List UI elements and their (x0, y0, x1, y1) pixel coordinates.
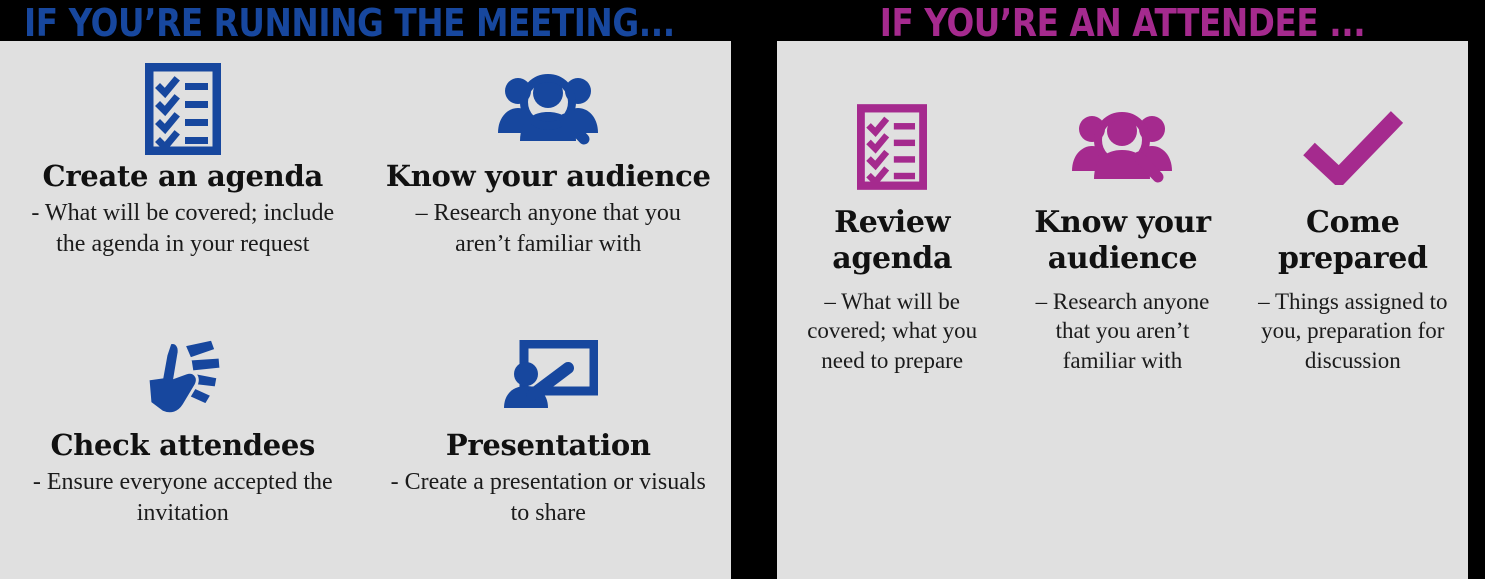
infographic-root: Create an agenda - What will be covered;… (0, 0, 1485, 579)
card-body: - Ensure everyone accepted the invitatio… (23, 467, 343, 528)
card-body: – Research anyone that you aren’t famili… (388, 198, 708, 259)
card-review-agenda: Review agenda – What will be covered; wh… (777, 99, 1007, 375)
panel-title-running-the-meeting: IF YOU’RE RUNNING THE MEETING... (24, 4, 675, 42)
audience-search-icon (496, 63, 600, 155)
card-title: Create an agenda (43, 161, 323, 192)
card-know-your-audience: Know your audience – Research anyone tha… (1007, 99, 1237, 375)
card-presentation: Presentation - Create a presentation or … (366, 310, 732, 529)
card-come-prepared: Come prepared – Things assigned to you, … (1238, 99, 1468, 375)
card-title: Come prepared (1250, 205, 1456, 277)
card-title: Review agenda (789, 205, 995, 277)
card-create-an-agenda: Create an agenda - What will be covered;… (0, 41, 366, 310)
card-body: – What will be covered; what you need to… (789, 287, 995, 375)
card-title: Presentation (446, 430, 651, 461)
clapping-hands-icon (140, 332, 226, 424)
presentation-board-icon (498, 332, 598, 424)
audience-search-icon (1070, 99, 1174, 195)
card-know-your-audience: Know your audience – Research anyone tha… (366, 41, 732, 310)
panel-running-the-meeting: Create an agenda - What will be covered;… (0, 41, 731, 579)
card-body: – Research anyone that you aren’t famili… (1019, 287, 1225, 375)
card-title: Check attendees (50, 430, 315, 461)
card-check-attendees: Check attendees - Ensure everyone accept… (0, 310, 366, 529)
checklist-icon (145, 63, 221, 155)
card-title: Know your audience (386, 161, 711, 192)
card-body: - What will be covered; include the agen… (23, 198, 343, 259)
card-grid-left: Create an agenda - What will be covered;… (0, 41, 731, 529)
card-title: Know your audience (1019, 205, 1225, 277)
card-grid-right: Review agenda – What will be covered; wh… (777, 99, 1468, 375)
panel-attendee: Review agenda – What will be covered; wh… (777, 41, 1468, 579)
checkmark-icon (1301, 99, 1405, 195)
panel-title-attendee: IF YOU’RE AN ATTENDEE ... (825, 4, 1419, 42)
card-body: - Create a presentation or visuals to sh… (388, 467, 708, 528)
card-body: – Things assigned to you, preparation fo… (1250, 287, 1456, 375)
checklist-icon (857, 99, 927, 195)
